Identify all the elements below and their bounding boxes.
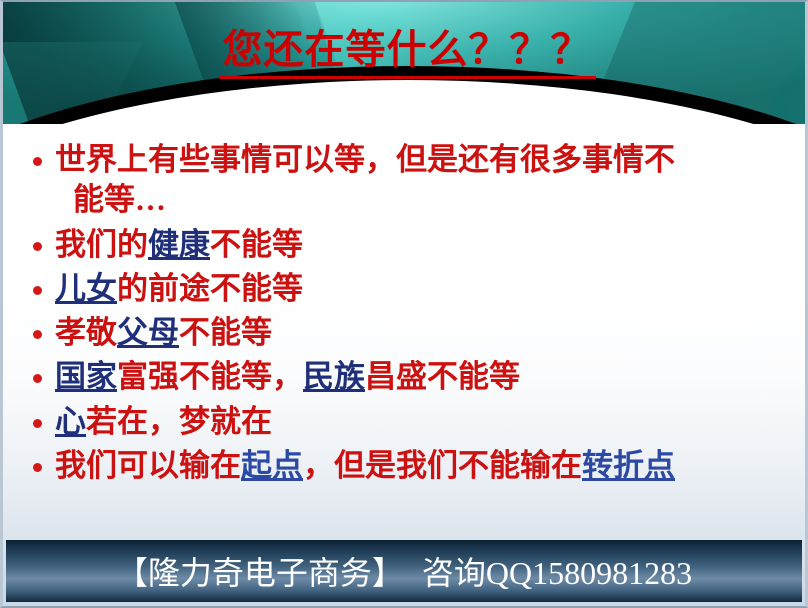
footer-contact: 咨询QQ1580981283: [422, 555, 692, 591]
bullet-5-link-1[interactable]: 国家: [55, 359, 117, 394]
slide-canvas: 您还在等什么？？？ 世界上有些事情可以等，但是还有很多事情不 能等… 我们的健康…: [0, 0, 808, 608]
list-item: 世界上有些事情可以等，但是还有很多事情不 能等…: [29, 140, 803, 221]
bullet-6-suffix: 若在，梦就在: [86, 404, 272, 439]
bullet-4-link[interactable]: 父母: [117, 315, 179, 350]
list-item: 我们的健康不能等: [29, 225, 803, 265]
bullet-7-mid: ，但是我们不能输在: [303, 448, 582, 483]
slide-title: 您还在等什么？？？: [3, 28, 808, 79]
footer-bar: 【隆力奇电子商务】咨询QQ1580981283: [6, 540, 802, 602]
bullet-7-prefix: 我们可以输在: [55, 448, 241, 483]
list-item: 国家富强不能等，民族昌盛不能等: [29, 357, 803, 397]
list-item: 儿女的前途不能等: [29, 269, 803, 309]
bullet-3-suffix: 的前途不能等: [117, 271, 303, 306]
footer-brand: 【隆力奇电子商务】: [116, 555, 404, 591]
bullet-3-link[interactable]: 儿女: [55, 271, 117, 306]
bullet-1-line2: 能等…: [55, 180, 803, 220]
bullet-7-link-2[interactable]: 转折点: [582, 448, 675, 483]
bullet-4-prefix: 孝敬: [55, 315, 117, 350]
bullet-5-link-2[interactable]: 民族: [303, 359, 365, 394]
bullet-6-link[interactable]: 心: [55, 404, 86, 439]
bullet-list: 世界上有些事情可以等，但是还有很多事情不 能等… 我们的健康不能等 儿女的前途不…: [3, 140, 808, 486]
bullet-2-suffix: 不能等: [210, 227, 303, 262]
bullet-2-link[interactable]: 健康: [148, 227, 210, 262]
list-item: 心若在，梦就在: [29, 402, 803, 442]
list-item: 我们可以输在起点，但是我们不能输在转折点: [29, 446, 803, 486]
footer-text: 【隆力奇电子商务】咨询QQ1580981283: [116, 548, 692, 594]
slide-title-text: 您还在等什么？？？: [219, 28, 596, 79]
slide-content: 世界上有些事情可以等，但是还有很多事情不 能等… 我们的健康不能等 儿女的前途不…: [3, 140, 808, 490]
bullet-5-mid-1: 富强不能等，: [117, 359, 303, 394]
bullet-5-mid-2: 昌盛不能等: [365, 359, 520, 394]
bullet-2-prefix: 我们的: [55, 227, 148, 262]
bullet-7-link-1[interactable]: 起点: [241, 448, 303, 483]
bullet-4-suffix: 不能等: [179, 315, 272, 350]
list-item: 孝敬父母不能等: [29, 313, 803, 353]
bullet-1-line1: 世界上有些事情可以等，但是还有很多事情不: [55, 142, 675, 177]
